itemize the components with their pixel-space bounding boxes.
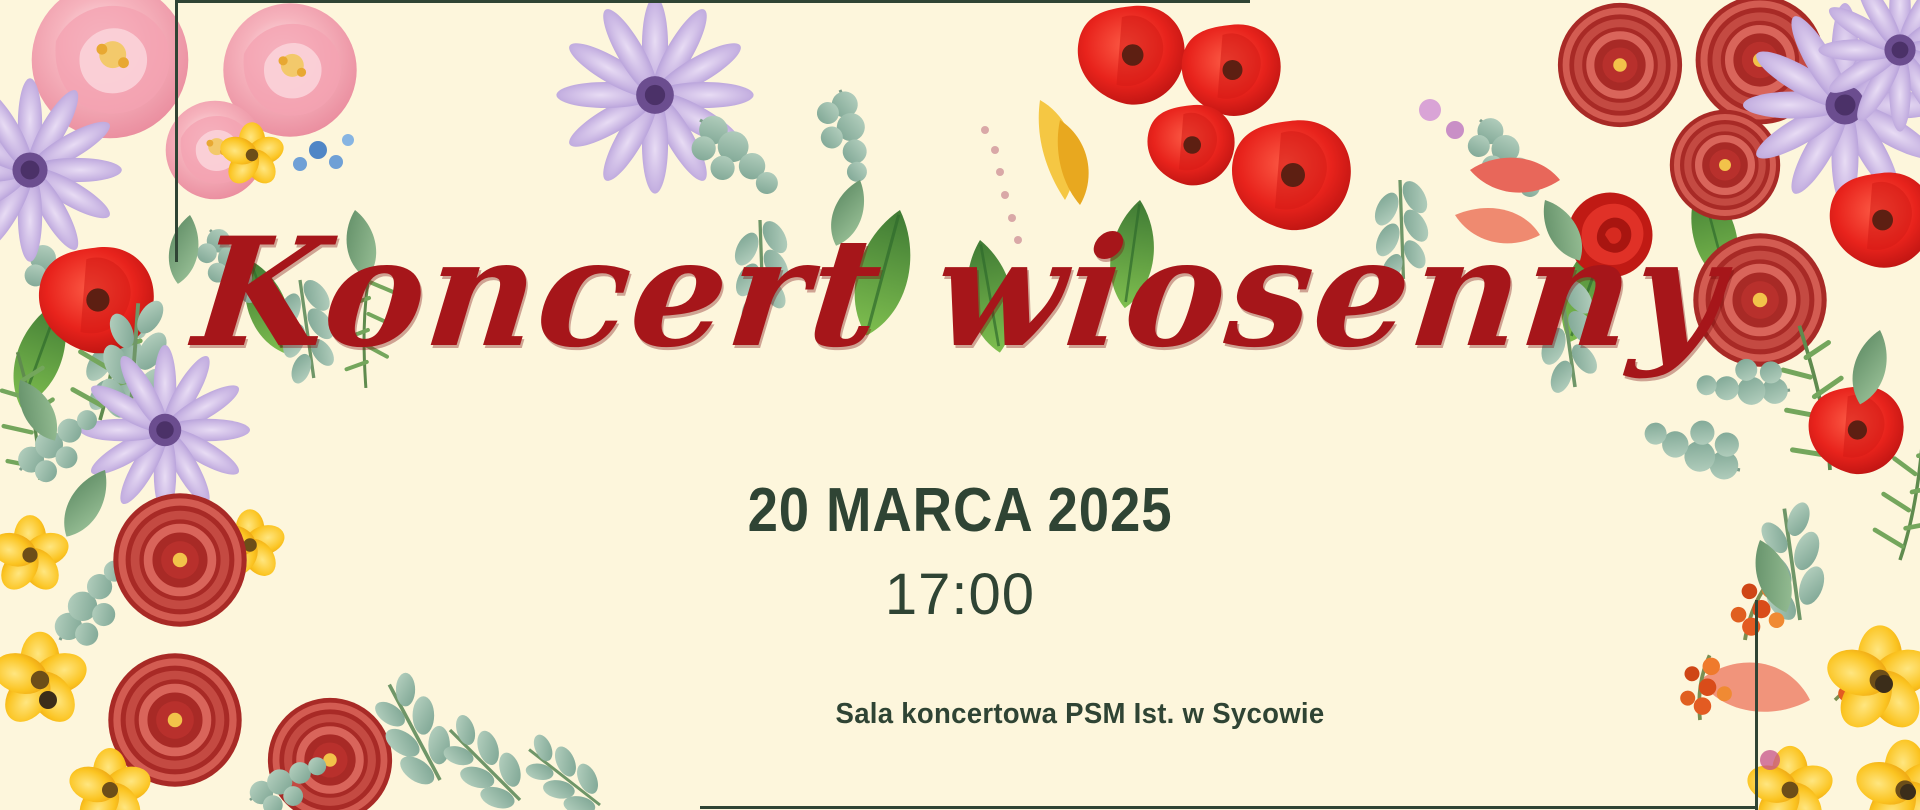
- floral-cluster-top-middle: [680, 6, 1351, 357]
- floral-cluster-top-right: [1369, 0, 1920, 712]
- frame-line-left-vertical: [175, 0, 178, 262]
- frame-line-top-horizontal: [175, 0, 1250, 3]
- frame-line-bottom-horizontal: [700, 806, 1758, 809]
- frame-line-right-vertical: [1755, 600, 1758, 810]
- floral-border-decoration: [0, 0, 1920, 810]
- poster-canvas: Koncert wiosenny 20 MARCA 2025 17:00 Sal…: [0, 0, 1920, 810]
- floral-cluster-right: [1640, 319, 1920, 810]
